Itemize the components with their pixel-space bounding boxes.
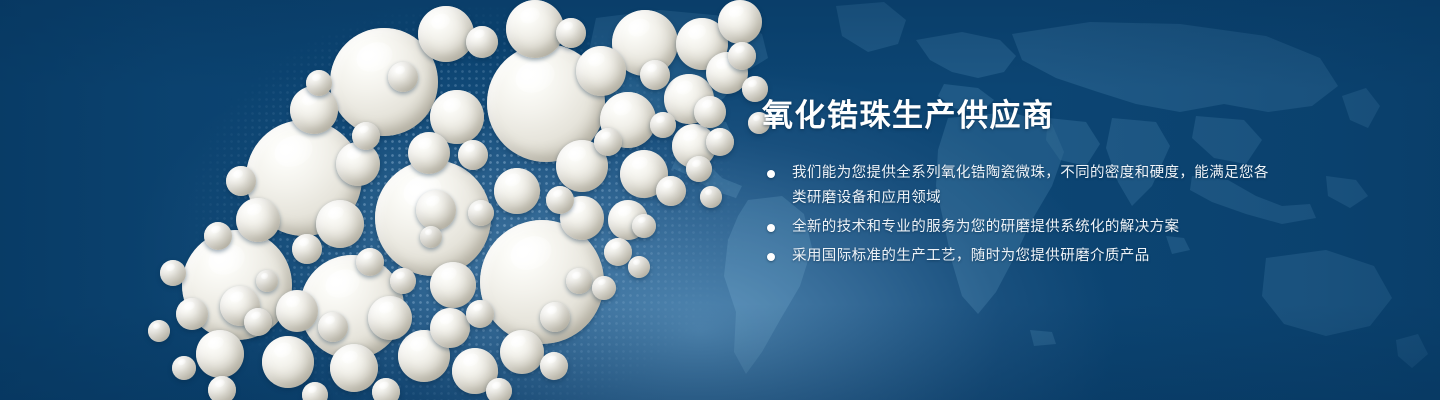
list-item-text: 全新的技术和专业的服务为您的研磨提供系统化的解决方案	[792, 215, 1282, 240]
bullet-dot-icon	[767, 253, 775, 261]
feature-list: 我们能为您提供全系列氧化锆陶瓷微珠，不同的密度和硬度，能满足您各类研磨设备和应用…	[762, 161, 1282, 269]
list-item: 采用国际标准的生产工艺，随时为您提供研磨介质产品	[762, 244, 1282, 269]
list-item-text: 我们能为您提供全系列氧化锆陶瓷微珠，不同的密度和硬度，能满足您各类研磨设备和应用…	[792, 161, 1282, 211]
list-item: 我们能为您提供全系列氧化锆陶瓷微珠，不同的密度和硬度，能满足您各类研磨设备和应用…	[762, 161, 1282, 211]
banner-text-block: 氧化锆珠生产供应商 我们能为您提供全系列氧化锆陶瓷微珠，不同的密度和硬度，能满足…	[762, 100, 1282, 269]
list-item-text: 采用国际标准的生产工艺，随时为您提供研磨介质产品	[792, 244, 1282, 269]
page-title: 氧化锆珠生产供应商	[762, 100, 1282, 131]
list-item: 全新的技术和专业的服务为您的研磨提供系统化的解决方案	[762, 215, 1282, 240]
bullet-dot-icon	[767, 170, 775, 178]
bullet-dot-icon	[767, 224, 775, 232]
hero-banner: 氧化锆珠生产供应商 我们能为您提供全系列氧化锆陶瓷微珠，不同的密度和硬度，能满足…	[0, 0, 1440, 400]
